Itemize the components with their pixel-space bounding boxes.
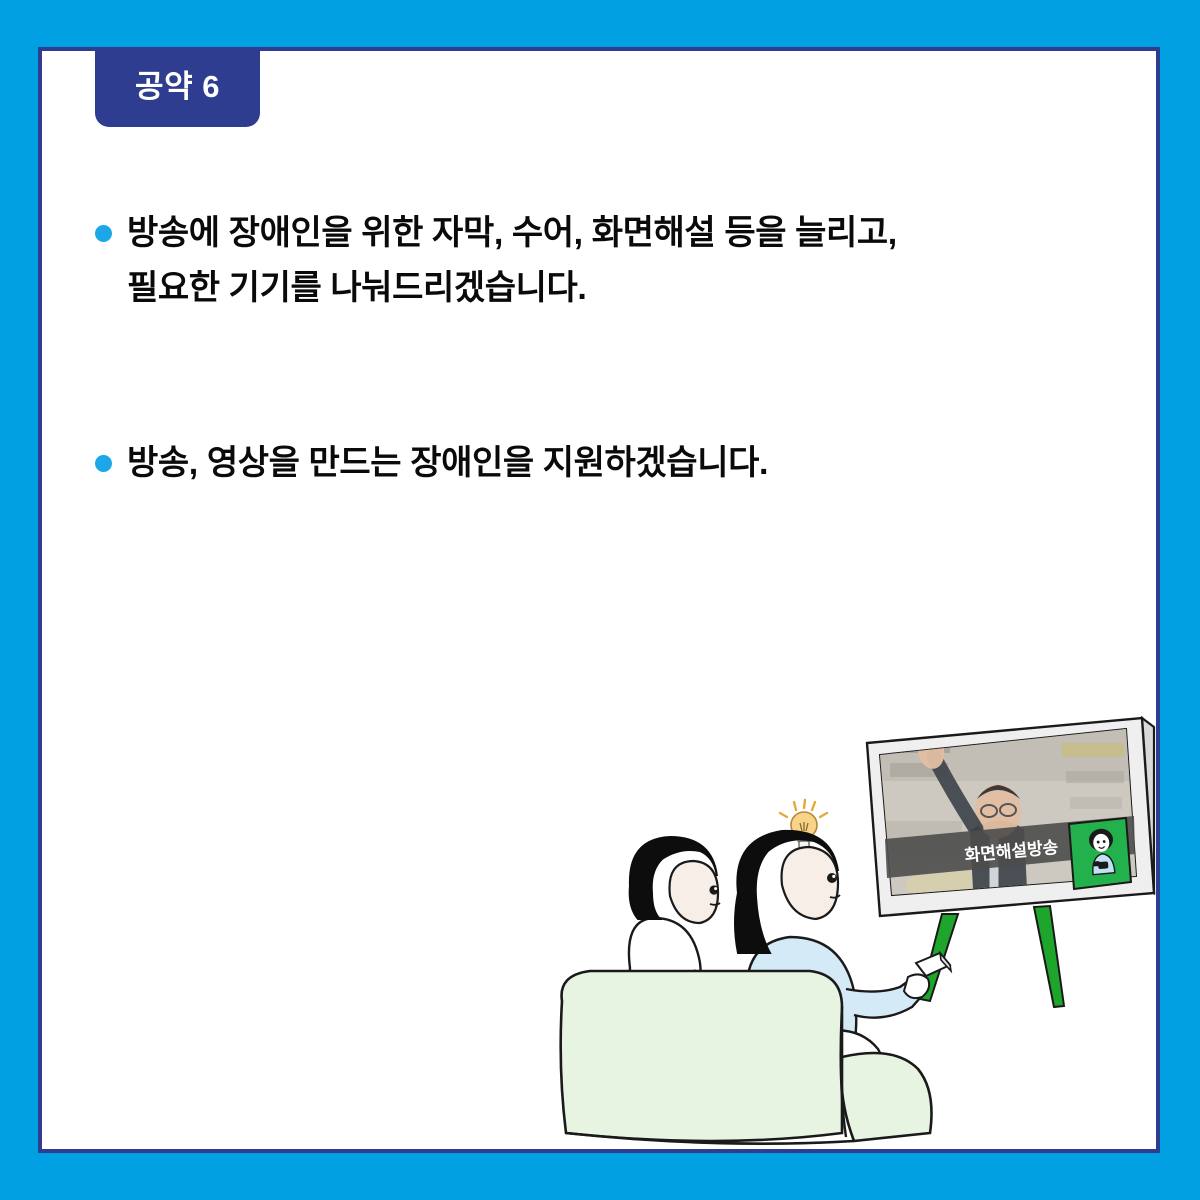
slide-root: 공약 6 방송에 장애인을 위한 자막, 수어, 화면해설 등을 늘리고, 필요… <box>0 0 1200 1200</box>
pledge-bullet-list: 방송에 장애인을 위한 자막, 수어, 화면해설 등을 늘리고, 필요한 기기를… <box>95 206 1095 491</box>
bullet-dot-icon <box>95 455 112 472</box>
pledge-badge-label: 공약 6 <box>135 71 220 104</box>
content-card: 공약 6 방송에 장애인을 위한 자막, 수어, 화면해설 등을 늘리고, 필요… <box>38 47 1160 1153</box>
television: 화면해설방송 <box>867 718 1154 1007</box>
tv-remote <box>916 953 951 976</box>
pledge-number-badge: 공약 6 <box>95 47 260 127</box>
bullet-text: 방송에 장애인을 위한 자막, 수어, 화면해설 등을 늘리고, 필요한 기기를… <box>127 206 897 316</box>
list-item: 방송에 장애인을 위한 자막, 수어, 화면해설 등을 늘리고, 필요한 기기를… <box>95 206 1095 316</box>
list-item: 방송, 영상을 만드는 장애인을 지원하겠습니다. <box>95 436 1095 491</box>
bullet-dot-icon <box>95 225 112 242</box>
sign-language-inset <box>1069 818 1131 889</box>
illustration-tv-viewing: 화면해설방송 <box>542 671 1160 1151</box>
bullet-text: 방송, 영상을 만드는 장애인을 지원하겠습니다. <box>127 436 768 491</box>
